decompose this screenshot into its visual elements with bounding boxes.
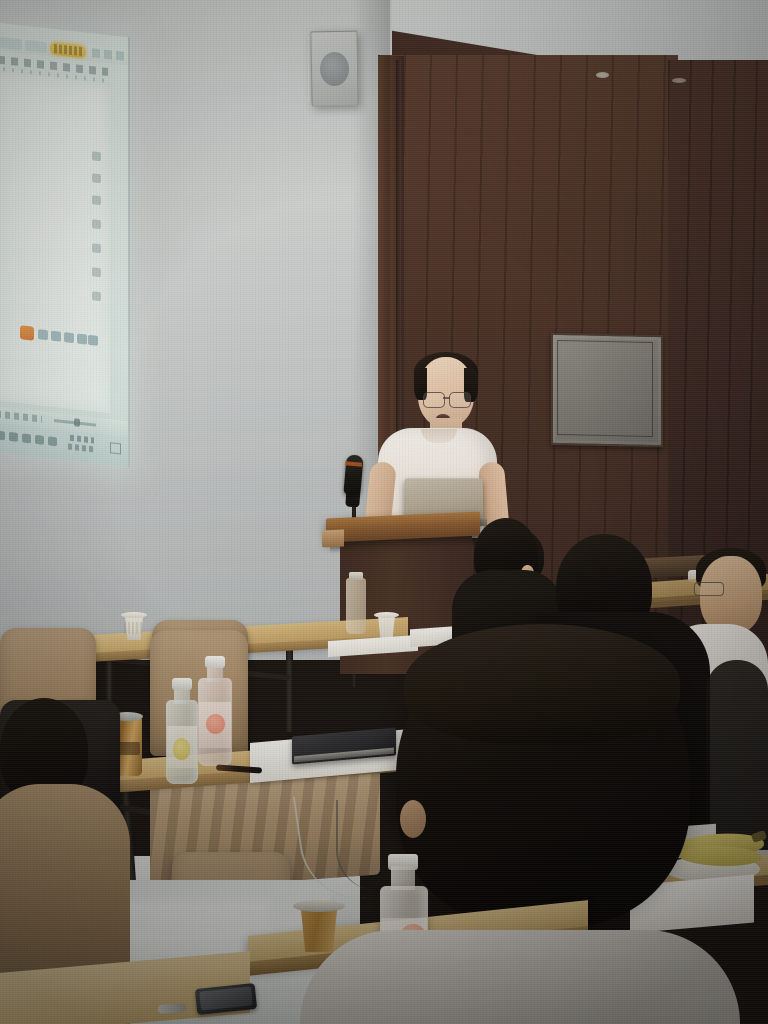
bottle-cap — [205, 656, 225, 668]
audience-member-silhouette — [706, 660, 768, 850]
projected-taskbar-icon — [0, 430, 5, 440]
projected-sidebar-icon — [92, 267, 101, 277]
ceiling-light-icon — [596, 72, 609, 78]
paper-cup-rim — [374, 612, 399, 618]
pa-speaker-driver-icon — [320, 52, 349, 86]
audience-eyeglasses — [694, 582, 724, 596]
projected-taskbar-icon — [35, 435, 44, 445]
projected-app-icon — [64, 332, 74, 343]
foreground-attendee-shoulders — [300, 930, 740, 1024]
cable — [336, 800, 398, 890]
projected-sidebar-icon — [92, 291, 101, 301]
marker-pen — [158, 1003, 187, 1014]
projected-maximize-icon — [104, 50, 112, 60]
projected-sidebar-icon — [92, 243, 101, 253]
projected-taskbar-icon — [48, 436, 57, 446]
ceiling-light-icon — [672, 78, 686, 83]
projected-sidebar-icon — [92, 219, 101, 229]
foreground-attendee-ear — [400, 800, 426, 838]
projected-taskbar-icon — [9, 432, 18, 442]
projected-sidebar-icons — [92, 151, 104, 312]
presenter-eyeglasses-lens — [423, 392, 445, 408]
projected-sidebar-icon — [92, 195, 101, 205]
paper-cup-rim — [293, 900, 345, 912]
projected-orange-app-icon — [20, 325, 34, 341]
projected-app-icon — [38, 329, 48, 340]
projected-sidebar-icon — [92, 151, 101, 161]
foreground-attendee-hair — [404, 624, 680, 744]
bottle-cap — [172, 678, 192, 690]
presenter-eyeglasses-bridge — [443, 397, 450, 399]
projected-tab — [25, 40, 47, 53]
pear-icon — [173, 738, 190, 760]
projector-screen — [0, 22, 128, 467]
lectern-corner-lip — [322, 530, 344, 548]
projected-app-icon — [77, 334, 87, 345]
projected-close-icon — [116, 51, 124, 61]
projected-app-icon — [88, 335, 98, 346]
paper-cup-ribbing — [124, 622, 144, 634]
water-bottle — [346, 578, 366, 634]
photo-scene: 水溶 C100 — [0, 0, 768, 1024]
table-leg — [286, 640, 293, 732]
projected-minimize-icon — [92, 48, 100, 58]
projected-tab — [0, 37, 22, 50]
presenter-eyeglasses-lens — [449, 392, 471, 408]
projected-notification-icon — [110, 442, 121, 454]
paper-cup-rim — [121, 612, 147, 618]
bottle-cap — [349, 572, 363, 580]
projected-sidebar-icon — [92, 173, 101, 183]
projected-app-icon — [51, 331, 61, 342]
peach-icon — [206, 714, 225, 734]
access-panel-frame — [557, 340, 653, 437]
projected-zoom-handle — [74, 418, 80, 427]
projected-taskbar-icon — [22, 433, 31, 443]
